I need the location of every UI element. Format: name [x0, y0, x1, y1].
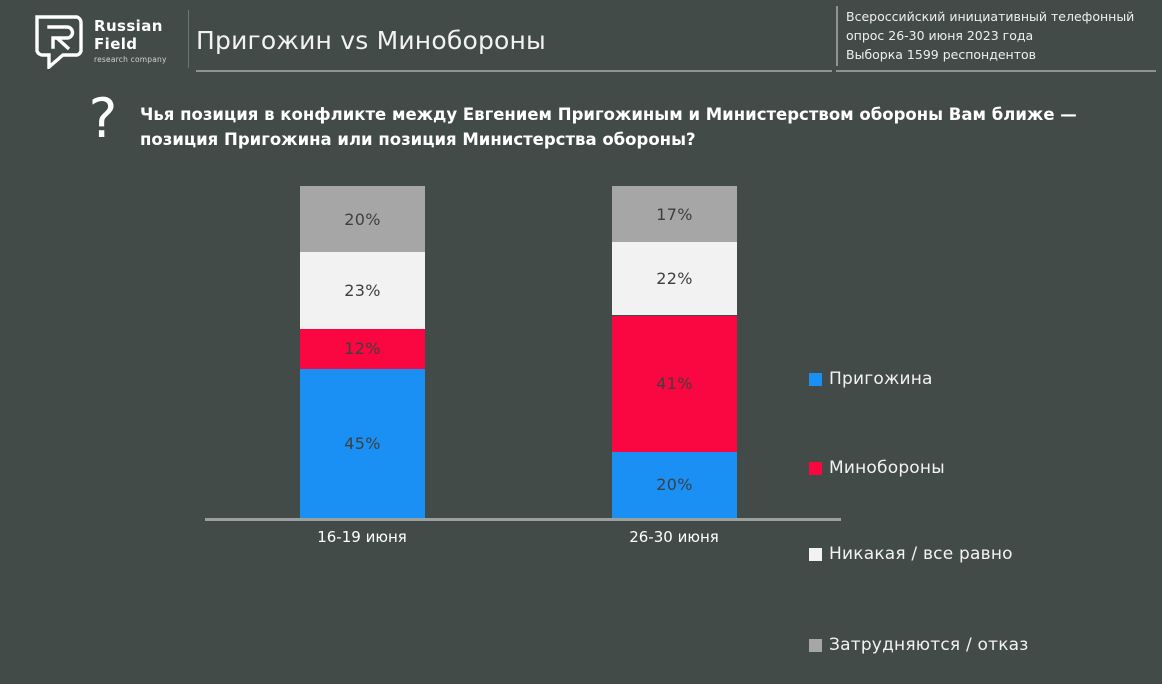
bar-segment: 17% — [612, 186, 737, 242]
bar-value-label: 41% — [656, 374, 692, 393]
chart-legend: Пригожина Минобороны Никакая / все равно… — [809, 354, 1139, 684]
legend-swatch-icon — [809, 639, 822, 652]
bar-value-label: 12% — [344, 339, 380, 358]
speech-bubble-rf-logo-icon — [33, 13, 85, 69]
meta-line-1: Всероссийский инициативный телефонный — [846, 7, 1156, 26]
title-underline — [196, 70, 832, 72]
brand-logo: Russian Field research company — [33, 10, 183, 72]
question-text: Чья позиция в конфликте между Евгением П… — [140, 102, 1140, 152]
legend-label: Минобороны — [829, 458, 945, 478]
meta-line-3: Выборка 1599 респондентов — [846, 45, 1156, 64]
bar-segment: 41% — [612, 316, 737, 452]
bar-segment: 12% — [300, 329, 425, 369]
bar-value-label: 22% — [656, 269, 692, 288]
bar-group: 45%12%23%20% — [300, 186, 425, 518]
legend-label: Пригожина — [829, 369, 933, 389]
bar-segment: 22% — [612, 242, 737, 315]
legend-item-minoborony[interactable]: Минобороны — [809, 458, 945, 478]
axis-baseline — [205, 518, 841, 521]
question-block: ? Чья позиция в конфликте между Евгением… — [78, 94, 1118, 160]
bar-value-label: 17% — [656, 205, 692, 224]
bar-value-label: 20% — [344, 210, 380, 229]
legend-item-prigozhin[interactable]: Пригожина — [809, 369, 933, 389]
bar-segment: 20% — [300, 186, 425, 252]
stacked-bar-chart: 45%12%23%20% 20%41%22%17% 16-19 июня 26-… — [0, 168, 1162, 568]
brand-wordmark: Russian Field research company — [94, 19, 167, 64]
bar-value-label: 23% — [344, 281, 380, 300]
bar-segment: 20% — [612, 452, 737, 518]
legend-item-refused[interactable]: Затрудняются / отказ — [809, 635, 1029, 655]
bar-segment: 23% — [300, 252, 425, 328]
meta-line-2: опрос 26-30 июня 2023 года — [846, 26, 1156, 45]
legend-label: Никакая / все равно — [829, 544, 1013, 564]
category-label: 16-19 июня — [252, 528, 472, 546]
survey-meta: Всероссийский инициативный телефонный оп… — [846, 7, 1156, 64]
meta-underline — [836, 70, 1156, 72]
category-label: 26-30 июня — [564, 528, 784, 546]
bar-segment: 45% — [300, 369, 425, 518]
brand-tagline: research company — [94, 56, 167, 64]
legend-swatch-icon — [809, 373, 822, 386]
brand-line-2: Field — [94, 37, 167, 52]
header-divider — [188, 10, 189, 68]
legend-swatch-icon — [809, 548, 822, 561]
page-title: Пригожин vs Минобороны — [196, 26, 546, 55]
legend-label: Затрудняются / отказ — [829, 635, 1029, 655]
question-mark-icon: ? — [82, 92, 124, 146]
legend-item-neither[interactable]: Никакая / все равно — [809, 544, 1013, 564]
bar-value-label: 20% — [656, 475, 692, 494]
page-header: Russian Field research company Пригожин … — [0, 0, 1162, 86]
plot-area: 45%12%23%20% 20%41%22%17% 16-19 июня 26-… — [205, 168, 840, 518]
bar-group: 20%41%22%17% — [612, 186, 737, 518]
bar-value-label: 45% — [344, 434, 380, 453]
meta-rule — [836, 6, 838, 66]
legend-swatch-icon — [809, 462, 822, 475]
brand-line-1: Russian — [94, 19, 167, 34]
